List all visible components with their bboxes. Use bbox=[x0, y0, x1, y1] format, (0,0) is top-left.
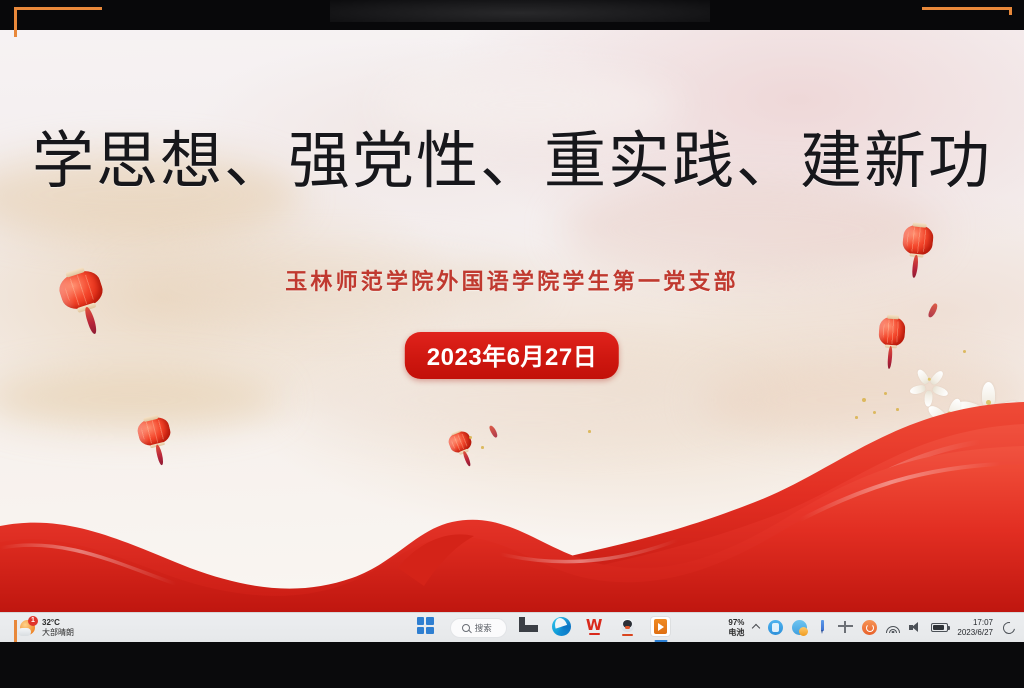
battery-text-label: 电池 bbox=[728, 628, 744, 638]
recording-frame-left bbox=[14, 7, 17, 37]
recording-frame-right bbox=[922, 7, 1012, 10]
screen-bottom-letterbox bbox=[0, 642, 1024, 688]
battery-percent-label: 97% bbox=[728, 618, 744, 628]
taskbar-weather-widget[interactable]: 1 32°C 大部晴朗 bbox=[0, 618, 360, 638]
safe-guard-icon[interactable] bbox=[862, 620, 877, 635]
ime-switch-icon[interactable] bbox=[838, 621, 853, 634]
search-icon bbox=[462, 624, 470, 632]
weather-sun-cloud-icon: 1 bbox=[18, 618, 37, 637]
weather-condition: 大部晴朗 bbox=[42, 628, 74, 637]
red-ribbon-wave bbox=[0, 372, 1024, 612]
lantern-tassel-fleck bbox=[927, 302, 939, 318]
recording-frame-bottom-left bbox=[14, 620, 17, 642]
pen-input-icon[interactable] bbox=[816, 620, 829, 635]
presentation-icon bbox=[651, 617, 670, 636]
chinese-lantern-icon bbox=[878, 316, 906, 347]
windows-taskbar[interactable]: 1 32°C 大部晴朗 搜索 W bbox=[0, 612, 1024, 642]
recording-frame-right-edge bbox=[1009, 7, 1012, 15]
slide-subtitle: 玉林师范学院外国语学院学生第一党支部 bbox=[0, 264, 1024, 296]
active-app-indicator bbox=[655, 640, 668, 642]
wps-icon: W bbox=[585, 617, 604, 636]
clock-date: 2023/6/27 bbox=[957, 628, 993, 638]
chinese-lantern-icon bbox=[902, 224, 935, 257]
gold-confetti-dot bbox=[963, 350, 966, 353]
search-placeholder-label: 搜索 bbox=[475, 622, 492, 634]
notification-bell-icon[interactable] bbox=[1002, 621, 1014, 634]
file-explorer-icon bbox=[519, 617, 538, 632]
chevron-up-icon[interactable] bbox=[752, 623, 760, 631]
taskbar-item-qq[interactable] bbox=[618, 617, 639, 638]
battery-icon[interactable] bbox=[931, 623, 948, 632]
qq-penguin-icon bbox=[618, 617, 637, 636]
taskbar-item-wps-office[interactable]: W bbox=[585, 617, 606, 638]
tray-battery-readout[interactable]: 97% 电池 bbox=[728, 618, 744, 637]
taskbar-item-file-explorer[interactable] bbox=[519, 617, 540, 638]
cloud-sync-icon[interactable] bbox=[792, 620, 807, 635]
taskbar-search-box[interactable]: 搜索 bbox=[450, 618, 507, 638]
clock-time: 17:07 bbox=[957, 618, 993, 628]
taskbar-app-area[interactable]: 搜索 W bbox=[360, 617, 728, 638]
windows-logo-icon bbox=[417, 617, 434, 634]
taskbar-item-presentation[interactable] bbox=[651, 617, 672, 638]
slide-title: 学思想、强党性、重实践、建新功 bbox=[0, 126, 1024, 195]
speaker-icon[interactable] bbox=[909, 622, 922, 633]
taskbar-clock[interactable]: 17:07 2023/6/27 bbox=[957, 618, 993, 637]
start-button[interactable] bbox=[417, 617, 438, 638]
system-tray[interactable]: 97% 电池 17:07 2023/6/27 bbox=[728, 618, 1024, 637]
recording-frame-top bbox=[14, 7, 102, 10]
weather-text: 32°C 大部晴朗 bbox=[42, 618, 74, 638]
weather-badge-count: 1 bbox=[28, 616, 38, 626]
wifi-icon[interactable] bbox=[886, 622, 900, 633]
onedrive-icon[interactable] bbox=[768, 620, 783, 635]
edge-icon bbox=[552, 617, 571, 636]
presentation-slide[interactable]: 学思想、强党性、重实践、建新功 玉林师范学院外国语学院学生第一党支部 2023年… bbox=[0, 30, 1024, 612]
taskbar-item-microsoft-edge[interactable] bbox=[552, 617, 573, 638]
screen-capture: 学思想、强党性、重实践、建新功 玉林师范学院外国语学院学生第一党支部 2023年… bbox=[0, 0, 1024, 688]
weather-temperature: 32°C bbox=[42, 618, 74, 628]
collapsed-toolbar-overlay[interactable] bbox=[330, 0, 710, 22]
